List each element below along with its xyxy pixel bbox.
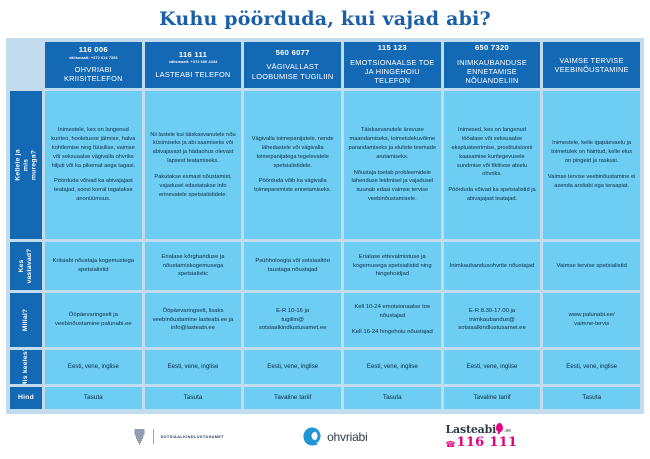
when-line: Kell 10-24 emotsionaalse toe nõustajad [348,303,437,321]
audience-paragraph: Täiskasvanutele ärevuse maandamiseks, to… [348,126,437,161]
cell-audience-col4: Täiskasvanutele ärevuse maandamiseks, to… [344,91,441,239]
when-line: www.palunabi.ee/ [569,311,615,320]
cell-price-col2: Tasuta [145,387,242,409]
sotsiaalkindlustusamet-label: Sotsiaalkindlustusamet [161,434,224,439]
column-header-inimkaubanduse-nouandeliin[interactable]: 650 7320 INIMKAUBANDUSE ENNETAMISE NÕUAN… [444,42,541,88]
audience-paragraph: Nii lastele kui täiskasvanutele nõu küsi… [149,131,238,166]
phone-number: 116 111 [179,51,207,59]
phone-number: 116 006 [79,46,108,54]
lasteabi-wordmark: Lasteabi .ee [446,424,512,435]
phone-handset-icon: ☎ [446,441,456,449]
phone-number: 115 123 [378,44,407,52]
cell-languages-col2: Eesti, vene, inglise [145,350,242,384]
ohvriabi-label: ohvriabi [327,430,367,444]
cell-when-col6[interactable]: www.palunabi.ee/ vaimne-tervis [543,293,640,347]
row-label-responders-text: Kes vastavad? [18,245,34,287]
price-text: Tasuta [84,393,103,403]
column-header-vaimse-tervise-veebinoustamine[interactable]: VAIMSE TERVISE VEEBINÕUSTAMINE [543,42,640,88]
phone-number: 560 6077 [276,49,310,57]
audience-paragraph: Pakutakse esmast nõustamist, vajadusel e… [149,173,238,199]
cell-when-col4: Kell 10-24 emotsionaalse toe nõustajad K… [344,293,441,347]
when-line: vaimne-tervis [574,320,609,329]
cell-audience-col6: Inimestele, kelle igapäevaelu ja toimetu… [543,91,640,239]
speech-bubble-icon [496,423,503,432]
service-name: OHVRIABI KRIISITELEFON [47,65,140,84]
cell-languages-col4: Eesti, vene, inglise [344,350,441,384]
service-name: VAIMSE TERVISE VEEBINÕUSTAMINE [545,56,638,75]
cell-price-col6: Tasuta [543,387,640,409]
cell-audience-col5: Inimesed, kes on langenud tööalase või s… [444,91,541,239]
cell-responders-col4: Erialase ettevalmistuse ja kogemusega sp… [344,242,441,290]
languages-text: Eesti, vene, inglise [367,362,418,371]
price-text: Tavaline tariif [274,393,311,403]
cell-price-col3: Tavaline tariif [244,387,341,409]
responders-text: Kriisiabi nõustaja kogemustega spetsiali… [49,257,138,275]
audience-paragraph: Inimestele, kelle igapäevaelu ja toimetu… [547,139,636,165]
column-header-emotsionaalse-toe-telefon[interactable]: 115 123 EMOTSIONAALSE TOE JA HINGEHOIU T… [344,42,441,88]
cell-languages-col6: Eesti, vene, inglise [543,350,640,384]
phone-number: 650 7320 [475,44,509,52]
when-line: sotsiaalkindlustusamet.ee [259,324,326,333]
row-label-responders: Kes vastavad? [10,242,42,290]
cell-responders-col2: Erialase kõrghariduse ja nõustamiskogemu… [145,242,242,290]
footer-logos: Sotsiaalkindlustusamet ohvriabi Lasteabi… [0,414,650,459]
row-label-price: Hind [10,387,42,409]
cell-when-col3: E-R 10-16 ja tugiliin@ sotsiaalkindlustu… [244,293,341,347]
audience-paragraph: Vägivalla toimepanijatele, nende lähedas… [248,135,337,170]
cell-responders-col3: Psühholoogia või sotsiaaltöö taustaga nõ… [244,242,341,290]
when-line: inimkaubandus@ [469,316,515,325]
audience-paragraph: Pöörduda võivad ka spetsialistid ja abiv… [448,186,537,204]
poster: Kuhu pöörduda, kui vajad abi? 116 006 vä… [0,0,650,459]
cell-languages-col1: Eesti, vene, inglise [45,350,142,384]
price-text: Tasuta [184,393,203,403]
title-bar: Kuhu pöörduda, kui vajad abi? [0,0,650,38]
help-services-table-panel: 116 006 välismaalt: +372 614 7393 OHVRIA… [6,38,644,414]
languages-text: Eesti, vene, inglise [68,362,119,371]
languages-text: Eesti, vene, inglise [566,362,617,371]
cell-responders-col1: Kriisiabi nõustaja kogemustega spetsiali… [45,242,142,290]
row-label-price-text: Hind [18,394,34,402]
row-label-audience: Kellele ja mis murega? [10,91,42,239]
row-label-when-text: Millal? [22,299,30,341]
service-name: VÄGIVALLAST LOOBUMISE TUGILIIN [246,62,339,81]
logo-sotsiaalkindlustusamet: Sotsiaalkindlustusamet [133,428,224,445]
cell-responders-col6: Vaimse tervise spetsialistid [543,242,640,290]
audience-paragraph: Inimestele, kes on langenud kuriteo, hoo… [49,126,138,170]
when-line: tugiliin@ [281,316,304,325]
when-line: sotsiaalkindlustusamet.ee [458,324,525,333]
audience-paragraph: Nõustaja toetab probleemidele lahenduse … [348,169,437,204]
responders-text: Erialase ettevalmistuse ja kogemusega sp… [348,253,437,280]
lasteabi-label: Lasteabi [446,424,497,435]
languages-text: Eesti, vene, inglise [467,362,518,371]
logo-lasteabi[interactable]: Lasteabi .ee ☎ 116 111 [446,424,518,449]
price-text: Tasuta [383,393,402,403]
responders-text: Erialase kõrghariduse ja nõustamiskogemu… [149,253,238,280]
lasteabi-phone-row: ☎ 116 111 [446,435,518,449]
audience-paragraph: Inimesed, kes on langenud tööalase või s… [448,126,537,179]
cell-when-col1: Ööpäevaringselt ja veebinõustamine palun… [45,293,142,347]
row-label-when: Millal? [10,293,42,347]
cell-when-col5: E-R 8.30-17.00 ja inimkaubandus@ sotsiaa… [444,293,541,347]
responders-text: Psühholoogia või sotsiaaltöö taustaga nõ… [248,257,337,275]
ohvriabi-logo-icon [302,427,322,447]
column-header-vagivallast-loobumise-tugiliin[interactable]: 560 6077 VÄGIVALLAST LOOBUMISE TUGILIIN [244,42,341,88]
cell-languages-col3: Eesti, vene, inglise [244,350,341,384]
languages-text: Eesti, vene, inglise [267,362,318,371]
audience-paragraph: Pöörduda võivad ka abivajajast teatajad,… [49,177,138,203]
responders-text: Vaimse tervise spetsialistid [557,262,627,271]
page-title: Kuhu pöörduda, kui vajad abi? [159,8,491,30]
estonian-coat-of-arms-icon [133,428,146,445]
when-line: E-R 10-16 ja [276,307,309,316]
international-number: välismaalt: +372 600 4434 [169,60,218,64]
international-number: välismaalt: +372 614 7393 [69,56,118,60]
logo-divider [153,429,154,444]
cell-price-col4: Tasuta [344,387,441,409]
when-line: Ööpäevaringselt, lisaks veebinõustamine … [149,307,238,334]
price-text: Tasuta [582,393,601,403]
cell-responders-col5: Inimkaubandusohvrite nõustajad [444,242,541,290]
row-label-languages: Mis keeles? [10,350,42,384]
when-line: Ööpäevaringselt ja veebinõustamine palun… [49,311,138,329]
row-label-audience-text: Kellele ja mis murega? [14,144,37,186]
cell-audience-col3: Vägivalla toimepanijatele, nende lähedas… [244,91,341,239]
cell-price-col5: Tavaline tariif [444,387,541,409]
cell-price-col1: Tasuta [45,387,142,409]
logo-ohvriabi[interactable]: ohvriabi [302,427,367,447]
help-services-table: 116 006 välismaalt: +372 614 7393 OHVRIA… [10,42,640,409]
cell-audience-col2: Nii lastele kui täiskasvanutele nõu küsi… [145,91,242,239]
cell-when-col2: Ööpäevaringselt, lisaks veebinõustamine … [145,293,242,347]
service-name: INIMKAUBANDUSE ENNETAMISE NÕUANDELIIN [446,58,539,86]
responders-text: Inimkaubandusohvrite nõustajad [450,262,535,271]
cell-languages-col5: Eesti, vene, inglise [444,350,541,384]
row-label-languages-text: Mis keeles? [22,350,30,384]
column-header-lasteabi-telefon[interactable]: 116 111 välismaalt: +372 600 4434 LASTEA… [145,42,242,88]
table-corner-spacer [10,42,42,88]
when-line: Kell 16-24 hingehoiu nõustajad [352,328,433,337]
languages-text: Eesti, vene, inglise [168,362,219,371]
audience-paragraph: Pöörduda võib ka vägivalla toimeparemist… [248,177,337,195]
service-name: LASTEABI TELEFON [155,70,230,79]
audience-paragraph: Vaimse tervise veebinõustamine ei asenda… [547,173,636,191]
column-header-ohvriabi-kriisitelefon[interactable]: 116 006 välismaalt: +372 614 7393 OHVRIA… [45,42,142,88]
service-name: EMOTSIONAALSE TOE JA HINGEHOIU TELEFON [346,58,439,86]
cell-audience-col1: Inimestele, kes on langenud kuriteo, hoo… [45,91,142,239]
price-text: Tavaline tariif [473,393,510,403]
lasteabi-tld: .ee [504,429,511,434]
lasteabi-number: 116 111 [456,436,517,449]
when-line: E-R 8.30-17.00 ja [469,307,515,316]
